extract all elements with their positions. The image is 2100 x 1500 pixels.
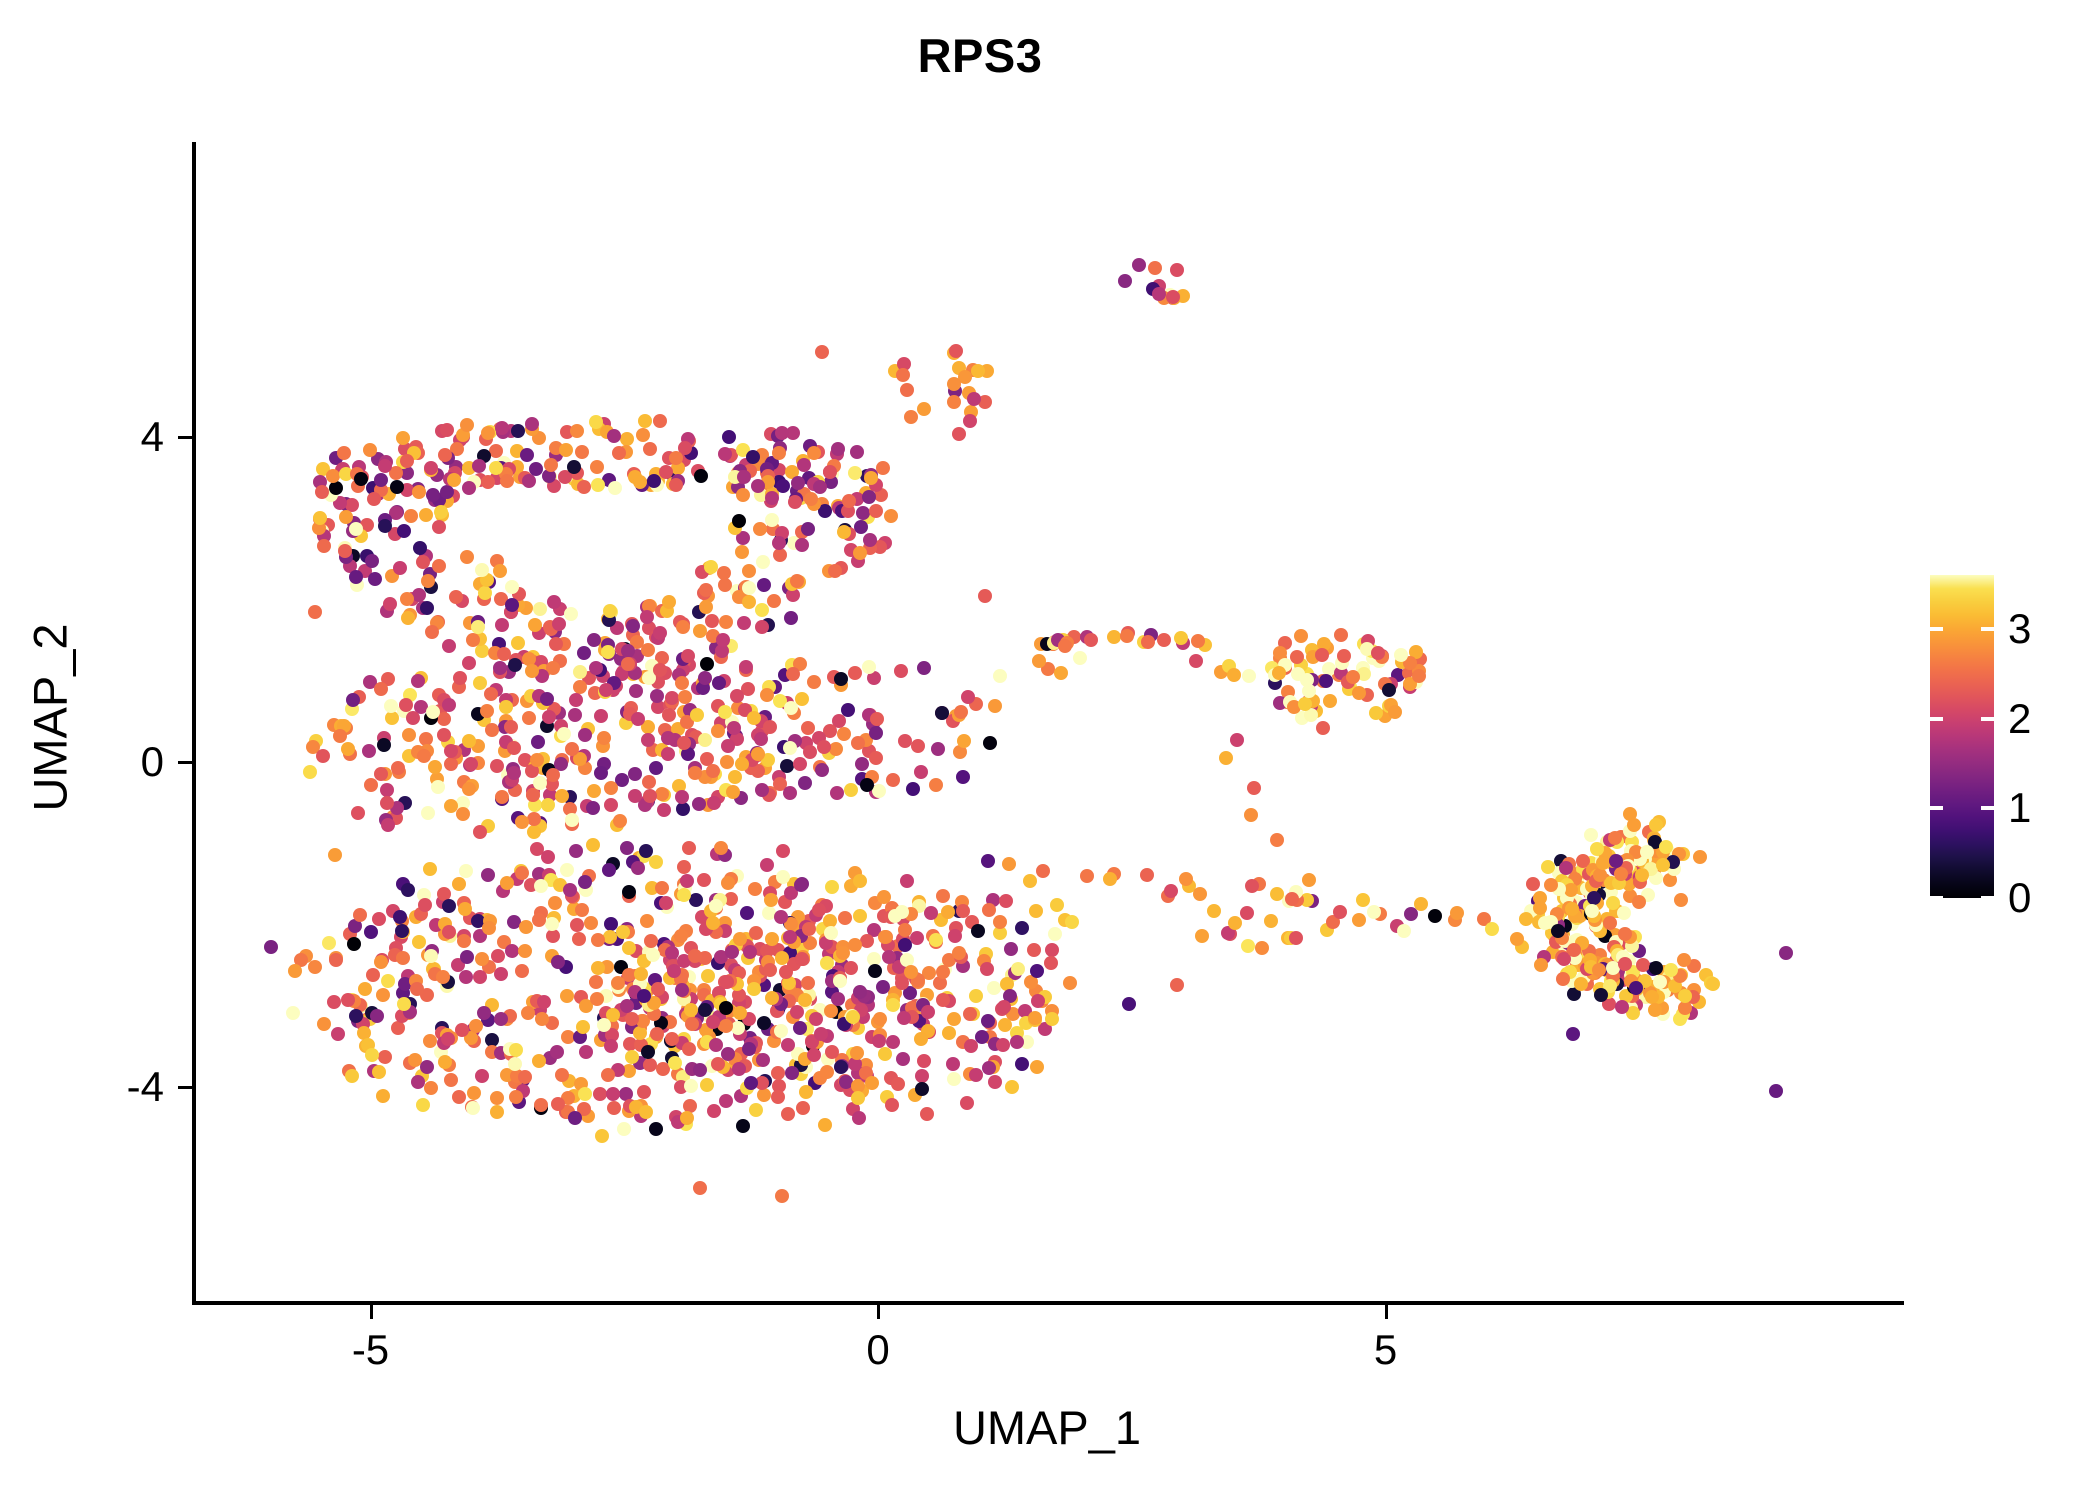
scatter-point (868, 964, 882, 978)
scatter-point (920, 1107, 934, 1121)
scatter-point (935, 706, 949, 720)
scatter-point (530, 753, 544, 767)
scatter-point (362, 744, 376, 758)
colorbar-tick-mark (1930, 806, 1943, 810)
scatter-point (1242, 669, 1256, 683)
scatter-point (1028, 1011, 1042, 1025)
scatter-point (1294, 629, 1308, 643)
colorbar-tick-label: 1 (2008, 787, 2031, 829)
scatter-point (1241, 939, 1255, 953)
scatter-point (456, 807, 470, 821)
scatter-point (569, 693, 583, 707)
scatter-point (608, 481, 622, 495)
scatter-point (791, 476, 805, 490)
scatter-point (620, 999, 634, 1013)
scatter-point (519, 920, 533, 934)
scatter-point (1170, 978, 1184, 992)
scatter-point (604, 798, 618, 812)
scatter-point (1015, 921, 1029, 935)
scatter-point (591, 478, 605, 492)
scatter-point (377, 738, 391, 752)
scatter-point (1103, 872, 1117, 886)
scatter-point (1272, 666, 1286, 680)
scatter-point (604, 1039, 618, 1053)
scatter-point (485, 723, 499, 737)
scatter-point (1030, 1060, 1044, 1074)
scatter-point (374, 682, 388, 696)
scatter-point (956, 770, 970, 784)
scatter-point (657, 803, 671, 817)
scatter-point (1371, 646, 1385, 660)
scatter-point (541, 850, 555, 864)
scatter-point (560, 989, 574, 1003)
scatter-point (807, 675, 821, 689)
scatter-point (525, 417, 539, 431)
colorbar-tick-label: 3 (2008, 608, 2031, 650)
scatter-point (906, 782, 920, 796)
scatter-point (726, 785, 740, 799)
scatter-point (572, 932, 586, 946)
scatter-point (719, 1001, 733, 1015)
scatter-point (644, 934, 658, 948)
scatter-point (798, 993, 812, 1007)
scatter-point (466, 1101, 480, 1115)
scatter-point (677, 888, 691, 902)
scatter-point (444, 757, 458, 771)
scatter-point (917, 1054, 931, 1068)
plot-panel (194, 142, 1900, 1303)
scatter-point (1084, 633, 1098, 647)
scatter-point (607, 429, 621, 443)
scatter-point (735, 757, 749, 771)
scatter-point (412, 485, 426, 499)
scatter-point (1590, 842, 1604, 856)
y-axis-title: UMAP_2 (23, 368, 78, 1068)
scatter-point (1054, 666, 1068, 680)
scatter-point (732, 1062, 746, 1076)
scatter-point (586, 801, 600, 815)
scatter-point (436, 970, 450, 984)
scatter-point (1063, 976, 1077, 990)
scatter-point (742, 564, 756, 578)
scatter-point (1608, 831, 1622, 845)
scatter-point (931, 742, 945, 756)
scatter-point (397, 524, 411, 538)
scatter-point (677, 860, 691, 874)
scatter-point (993, 669, 1007, 683)
scatter-point (807, 446, 821, 460)
scatter-point (1132, 258, 1146, 272)
scatter-point (748, 882, 762, 896)
scatter-point (432, 520, 446, 534)
scatter-point (354, 472, 368, 486)
scatter-point (401, 883, 415, 897)
scatter-point (578, 728, 592, 742)
scatter-point (1369, 706, 1383, 720)
scatter-point (662, 595, 676, 609)
scatter-point (850, 445, 864, 459)
scatter-point (749, 1103, 763, 1117)
scatter-point (570, 424, 584, 438)
colorbar-gradient (1930, 575, 1994, 898)
scatter-point (877, 890, 891, 904)
scatter-point (349, 1009, 363, 1023)
scatter-point (884, 509, 898, 523)
scatter-point (767, 594, 781, 608)
scatter-point (733, 932, 747, 946)
scatter-point (1065, 915, 1079, 929)
scatter-point (531, 735, 545, 749)
scatter-point (1319, 674, 1333, 688)
scatter-point (418, 898, 432, 912)
scatter-point (1645, 990, 1659, 1004)
scatter-point (604, 781, 618, 795)
scatter-point (1048, 927, 1062, 941)
scatter-point (865, 1076, 879, 1090)
scatter-point (346, 693, 360, 707)
scatter-point (622, 885, 636, 899)
scatter-point (650, 1027, 664, 1041)
scatter-point (628, 767, 642, 781)
scatter-point (1388, 705, 1402, 719)
scatter-point (438, 448, 452, 462)
scatter-point (1207, 904, 1221, 918)
scatter-point (1315, 648, 1329, 662)
scatter-point (678, 690, 692, 704)
scatter-point (1526, 877, 1540, 891)
scatter-point (796, 1101, 810, 1115)
scatter-point (1023, 874, 1037, 888)
scatter-point (288, 964, 302, 978)
scatter-point (472, 459, 486, 473)
scatter-point (590, 992, 604, 1006)
scatter-point (534, 879, 548, 893)
scatter-point (494, 967, 508, 981)
scatter-point (1244, 808, 1258, 822)
scatter-point (685, 1017, 699, 1031)
scatter-point (1270, 833, 1284, 847)
scatter-point (1011, 962, 1025, 976)
scatter-point (579, 1045, 593, 1059)
scatter-point (825, 880, 839, 894)
scatter-point (680, 874, 694, 888)
scatter-point (980, 962, 994, 976)
scatter-point (719, 615, 733, 629)
scatter-point (1556, 972, 1570, 986)
scatter-point (999, 894, 1013, 908)
scatter-point (954, 705, 968, 719)
colorbar-tick-label: 0 (2008, 877, 2031, 919)
scatter-point (308, 605, 322, 619)
scatter-point (1189, 654, 1203, 668)
scatter-point (701, 969, 715, 983)
scatter-point (462, 481, 476, 495)
color-legend: 0123 (1930, 575, 2080, 900)
scatter-point (771, 1066, 785, 1080)
scatter-point (540, 692, 554, 706)
scatter-point (1551, 924, 1565, 938)
scatter-point (844, 783, 858, 797)
scatter-point (589, 661, 603, 675)
scatter-point (886, 773, 900, 787)
scatter-point (477, 1006, 491, 1020)
scatter-point (397, 997, 411, 1011)
scatter-point (873, 1012, 887, 1026)
scatter-point (317, 539, 331, 553)
scatter-point (504, 720, 518, 734)
scatter-point (841, 703, 855, 717)
scatter-point (684, 1079, 698, 1093)
scatter-point (568, 708, 582, 722)
colorbar-tick-mark (1981, 627, 1994, 631)
scatter-point (464, 757, 478, 771)
scatter-point (831, 992, 845, 1006)
colorbar-tick-mark (1930, 717, 1943, 721)
scatter-point (957, 734, 971, 748)
scatter-point (682, 841, 696, 855)
scatter-point (855, 757, 869, 771)
scatter-point (783, 786, 797, 800)
scatter-point (1485, 922, 1499, 936)
scatter-point (511, 424, 525, 438)
scatter-point (552, 617, 566, 631)
scatter-point (602, 863, 616, 877)
scatter-point (1412, 669, 1426, 683)
scatter-point (900, 874, 914, 888)
scatter-point (690, 708, 704, 722)
scatter-point (783, 741, 797, 755)
scatter-point (711, 1057, 725, 1071)
scatter-point (848, 666, 862, 680)
scatter-point (601, 1068, 615, 1082)
scatter-point (1290, 650, 1304, 664)
scatter-point (813, 480, 827, 494)
scatter-point (460, 418, 474, 432)
scatter-point (772, 536, 786, 550)
scatter-point (442, 698, 456, 712)
scatter-point (643, 442, 657, 456)
scatter-point (573, 680, 587, 694)
scatter-point (1166, 290, 1180, 304)
scatter-point (993, 915, 1007, 929)
scatter-point (606, 1087, 620, 1101)
scatter-point (400, 454, 414, 468)
scatter-point (1609, 854, 1623, 868)
scatter-point (914, 765, 928, 779)
scatter-point (978, 589, 992, 603)
scatter-point (790, 574, 804, 588)
scatter-point (963, 414, 977, 428)
scatter-point (475, 563, 489, 577)
scatter-point (698, 671, 712, 685)
scatter-point (1656, 858, 1670, 872)
scatter-point (416, 1098, 430, 1112)
scatter-point (437, 728, 451, 742)
scatter-point (599, 683, 613, 697)
scatter-point (1352, 913, 1366, 927)
scatter-point (1004, 942, 1018, 956)
scatter-point (345, 1069, 359, 1083)
scatter-point (1230, 733, 1244, 747)
scatter-point (878, 1047, 892, 1061)
scatter-point (481, 868, 495, 882)
scatter-point (1674, 893, 1688, 907)
scatter-point (467, 1086, 481, 1100)
scatter-point (400, 592, 414, 606)
scatter-point (541, 798, 555, 812)
scatter-point (815, 345, 829, 359)
scatter-point (763, 720, 777, 734)
scatter-point (719, 1094, 733, 1108)
scatter-point (921, 1005, 935, 1019)
scatter-point (886, 998, 900, 1012)
scatter-point (424, 949, 438, 963)
scatter-point (402, 728, 416, 742)
scatter-point (668, 1056, 682, 1070)
scatter-point (376, 988, 390, 1002)
scatter-point (737, 616, 751, 630)
scatter-point (1240, 906, 1254, 920)
scatter-point (1015, 1057, 1029, 1071)
scatter-point (996, 1038, 1010, 1052)
scatter-point (327, 995, 341, 1009)
scatter-point (520, 448, 534, 462)
scatter-point (641, 643, 655, 657)
scatter-point (424, 1081, 438, 1095)
scatter-point (411, 1075, 425, 1089)
scatter-point (480, 704, 494, 718)
scatter-point (1058, 639, 1072, 653)
scatter-point (508, 658, 522, 672)
x-tick-mark (1385, 1305, 1388, 1319)
scatter-point (795, 952, 809, 966)
scatter-point (963, 1007, 977, 1021)
scatter-point (460, 550, 474, 564)
scatter-point (493, 564, 507, 578)
scatter-point (393, 910, 407, 924)
scatter-point (578, 1087, 592, 1101)
scatter-point (401, 611, 415, 625)
x-tick-label: -5 (271, 1329, 471, 1371)
scatter-point (1533, 901, 1547, 915)
scatter-point (820, 956, 834, 970)
scatter-point (440, 423, 454, 437)
scatter-point (518, 1070, 532, 1084)
scatter-point (779, 965, 793, 979)
scatter-point (771, 1090, 785, 1104)
scatter-point (1073, 651, 1087, 665)
scatter-point (904, 410, 918, 424)
scatter-point (1678, 989, 1692, 1003)
scatter-point (1450, 906, 1464, 920)
scatter-point (365, 554, 379, 568)
scatter-point (794, 878, 808, 892)
x-tick-label: 0 (778, 1329, 978, 1371)
scatter-point (453, 671, 467, 685)
scatter-point (711, 724, 725, 738)
scatter-point (597, 731, 611, 745)
scatter-point (1228, 916, 1242, 930)
scatter-point (757, 578, 771, 592)
scatter-point (653, 414, 667, 428)
scatter-point (876, 461, 890, 475)
scatter-point (491, 949, 505, 963)
scatter-point (838, 911, 852, 925)
scatter-point (647, 474, 661, 488)
scatter-point (473, 825, 487, 839)
scatter-point (1635, 868, 1649, 882)
scatter-point (693, 1063, 707, 1077)
scatter-point (981, 854, 995, 868)
scatter-point (776, 844, 790, 858)
scatter-point (1285, 892, 1299, 906)
colorbar-tick-mark (1981, 717, 1994, 721)
scatter-point (836, 946, 850, 960)
scatter-point (743, 945, 757, 959)
scatter-point (869, 504, 883, 518)
scatter-point (381, 818, 395, 832)
scatter-point (589, 975, 603, 989)
scatter-point (1617, 906, 1631, 920)
scatter-point (522, 711, 536, 725)
scatter-point (1245, 879, 1259, 893)
scatter-point (603, 604, 617, 618)
scatter-point (721, 876, 735, 890)
scatter-point (894, 664, 908, 678)
scatter-point (911, 739, 925, 753)
scatter-point (1566, 1027, 1580, 1041)
scatter-point (775, 1189, 789, 1203)
scatter-point (804, 492, 818, 506)
scatter-point (411, 674, 425, 688)
scatter-point (303, 765, 317, 779)
scatter-point (497, 647, 511, 661)
scatter-point (1316, 721, 1330, 735)
scatter-point (717, 566, 731, 580)
scatter-point (860, 934, 874, 948)
scatter-point (546, 929, 560, 943)
scatter-point (616, 925, 630, 939)
scatter-point (915, 1082, 929, 1096)
scatter-point (328, 848, 342, 862)
x-tick-mark (370, 1305, 373, 1319)
scatter-point (917, 402, 931, 416)
scatter-point (982, 903, 996, 917)
scatter-point (1045, 1012, 1059, 1026)
scatter-point (426, 705, 440, 719)
scatter-point (790, 1005, 804, 1019)
scatter-point (546, 768, 560, 782)
scatter-point (809, 1012, 823, 1026)
scatter-point (754, 732, 768, 746)
scatter-point (891, 1077, 905, 1091)
scatter-point (785, 1066, 799, 1080)
scatter-point (682, 1042, 696, 1056)
scatter-point (378, 1050, 392, 1064)
scatter-point (532, 1054, 546, 1068)
scatter-point (505, 580, 519, 594)
scatter-point (637, 1085, 651, 1099)
scatter-point (509, 1043, 523, 1057)
scatter-point (898, 938, 912, 952)
scatter-point (1397, 924, 1411, 938)
scatter-point (661, 747, 675, 761)
scatter-point (475, 952, 489, 966)
scatter-point (1382, 683, 1396, 697)
scatter-point (1141, 635, 1155, 649)
scatter-point (1036, 864, 1050, 878)
scatter-point (631, 861, 645, 875)
